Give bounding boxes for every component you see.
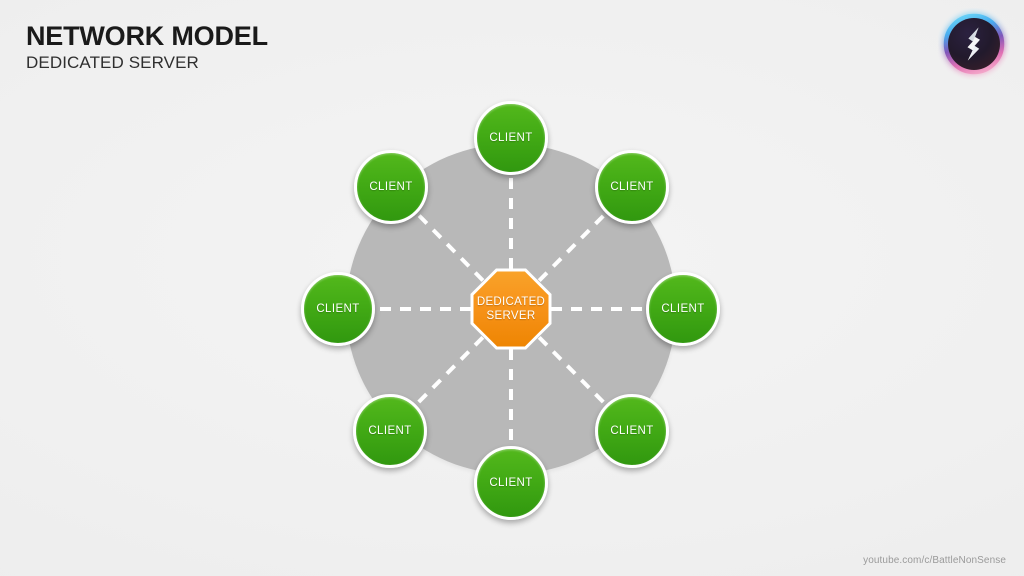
client-node-label: CLIENT [489, 132, 532, 144]
server-label: DEDICATED SERVER [467, 265, 555, 353]
client-node[interactable]: CLIENT [474, 101, 548, 175]
server-label-line2: SERVER [487, 309, 536, 323]
client-node-label: CLIENT [610, 425, 653, 437]
header: NETWORK MODEL DEDICATED SERVER [26, 22, 268, 75]
client-node[interactable]: CLIENT [474, 446, 548, 520]
client-node[interactable]: CLIENT [301, 272, 375, 346]
client-node[interactable]: CLIENT [646, 272, 720, 346]
client-node-label: CLIENT [489, 477, 532, 489]
watermark: youtube.com/c/BattleNonSense [863, 555, 1006, 566]
client-node[interactable]: CLIENT [595, 394, 669, 468]
page-subtitle: DEDICATED SERVER [26, 52, 268, 75]
client-node-label: CLIENT [368, 425, 411, 437]
brand-logo [938, 8, 1010, 80]
server-label-line1: DEDICATED [477, 295, 545, 309]
client-node-label: CLIENT [661, 303, 704, 315]
client-node-label: CLIENT [369, 181, 412, 193]
client-node-label: CLIENT [610, 181, 653, 193]
client-node[interactable]: CLIENT [353, 394, 427, 468]
server-node[interactable]: DEDICATED SERVER [467, 265, 555, 353]
client-node[interactable]: CLIENT [354, 150, 428, 224]
logo-svg [938, 8, 1010, 80]
network-diagram: CLIENTCLIENTCLIENTCLIENTCLIENTCLIENTCLIE… [0, 0, 1024, 576]
client-node-label: CLIENT [316, 303, 359, 315]
page-title: NETWORK MODEL [26, 22, 268, 50]
client-node[interactable]: CLIENT [595, 150, 669, 224]
